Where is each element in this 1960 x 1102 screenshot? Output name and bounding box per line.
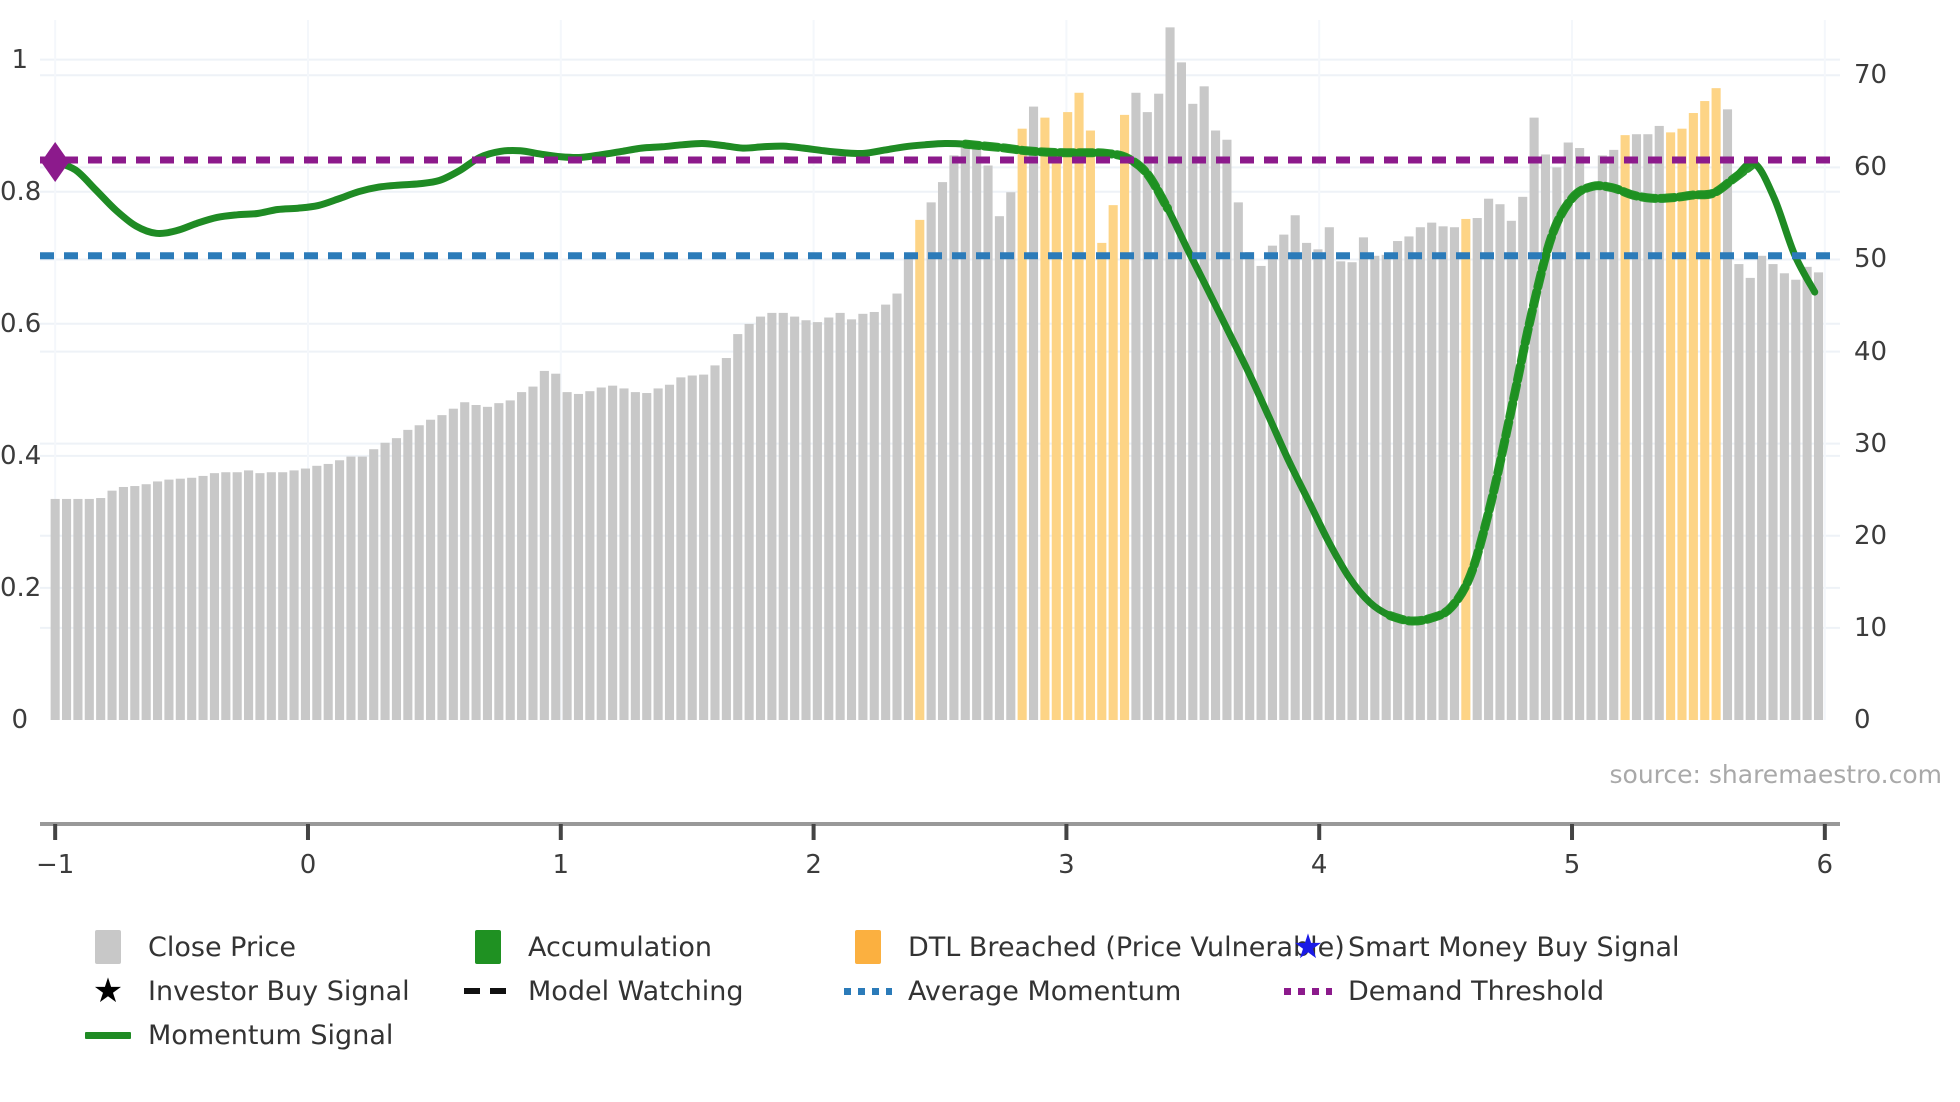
bar-close-price [221, 472, 230, 720]
legend-row: ★Investor Buy SignalModel WatchingAverag… [78, 969, 1928, 1013]
x-axis [0, 818, 1960, 878]
bar-close-price [1734, 264, 1743, 720]
bar-close-price [1598, 155, 1607, 720]
bar-close-price [335, 460, 344, 720]
legend-average-momentum[interactable]: Average Momentum [838, 969, 1181, 1013]
bar-close-price [881, 305, 890, 720]
bar-close-price [995, 216, 1004, 720]
bar-close-price [426, 420, 435, 720]
bar-close-price [164, 480, 173, 720]
bar-dtl-breached [1086, 131, 1095, 720]
bar-close-price [1530, 118, 1539, 720]
bar-close-price [642, 393, 651, 720]
bar-close-price [836, 313, 845, 720]
legend-label: Momentum Signal [138, 1020, 393, 1051]
y-axis-left-tick: 0.6 [0, 311, 28, 337]
bar-close-price [62, 499, 71, 720]
bar-close-price [1803, 267, 1812, 720]
bar-close-price [278, 472, 287, 720]
bar-close-price [870, 312, 879, 720]
bar-close-price [506, 400, 515, 720]
bar-dtl-breached [1689, 113, 1698, 720]
bar-close-price [858, 314, 867, 720]
bar-close-price [1166, 27, 1175, 720]
bar-close-price [437, 415, 446, 720]
bar-close-price [1757, 256, 1766, 720]
square-swatch-icon [475, 930, 501, 964]
bar-close-price [255, 473, 264, 720]
bar-close-price [358, 457, 367, 720]
dashed-line-swatch-icon [464, 988, 512, 994]
bar-close-price [324, 464, 333, 720]
bar-close-price [1222, 140, 1231, 720]
bar-close-price [517, 392, 526, 720]
bar-close-price [1518, 197, 1527, 720]
bar-close-price [563, 392, 572, 720]
bar-close-price [1723, 109, 1732, 720]
bar-close-price [631, 392, 640, 720]
y-axis-right-tick: 0 [1854, 707, 1871, 733]
bar-close-price [676, 377, 685, 720]
bar-close-price [892, 294, 901, 720]
bar-close-price [130, 486, 139, 720]
legend-label: Close Price [138, 932, 296, 963]
legend-accumulation[interactable]: Accumulation [458, 925, 712, 969]
bar-close-price [1791, 280, 1800, 720]
bar-close-price [472, 405, 481, 720]
bar-close-price [801, 320, 810, 720]
bar-dtl-breached [1109, 205, 1118, 720]
bar-close-price [619, 388, 628, 720]
bar-dtl-breached [1677, 129, 1686, 720]
legend-close-price[interactable]: Close Price [78, 925, 296, 969]
bar-close-price [267, 472, 276, 720]
bar-close-price [1632, 134, 1641, 720]
bar-close-price [1393, 241, 1402, 720]
bar-close-price [494, 403, 503, 720]
bar-close-price [961, 145, 970, 720]
bar-close-price [301, 469, 310, 720]
bar-close-price [73, 499, 82, 720]
dotted-line-swatch-icon [1284, 988, 1332, 995]
bar-close-price [665, 385, 674, 720]
bar-close-price [597, 388, 606, 721]
bar-close-price [233, 472, 242, 720]
bar-close-price [1746, 278, 1755, 720]
bar-dtl-breached [1712, 88, 1721, 720]
bar-close-price [1006, 192, 1015, 720]
y-axis-right-tick: 20 [1854, 523, 1887, 549]
bar-close-price [528, 387, 537, 720]
bar-close-price [1188, 104, 1197, 720]
bar-close-price [1348, 262, 1357, 720]
square-swatch-icon [95, 930, 121, 964]
legend-swatch [458, 988, 518, 994]
bar-dtl-breached [915, 220, 924, 720]
bar-close-price [813, 322, 822, 720]
legend-momentum-signal[interactable]: Momentum Signal [78, 1013, 393, 1057]
y-axis-left-tick: 0.8 [0, 179, 28, 205]
bar-close-price [654, 388, 663, 720]
legend-swatch: ★ [78, 974, 138, 1008]
legend-label: Average Momentum [898, 976, 1181, 1007]
bar-close-price [381, 443, 390, 720]
bar-close-price [1586, 184, 1595, 720]
legend-dtl-breached[interactable]: DTL Breached (Price Vulnerable) [838, 925, 1345, 969]
bar-close-price [1257, 266, 1266, 720]
bar-close-price [551, 374, 560, 720]
bar-close-price [1200, 86, 1209, 720]
bar-close-price [142, 484, 151, 720]
bar-close-price [290, 470, 299, 720]
bar-close-price [745, 324, 754, 720]
bar-close-price [449, 409, 458, 720]
bar-close-price [927, 202, 936, 720]
bar-close-price [1234, 202, 1243, 720]
bar-close-price [1507, 221, 1516, 720]
bar-close-price [904, 257, 913, 720]
legend-swatch [78, 930, 138, 964]
y-axis-left-tick: 1 [0, 47, 28, 73]
bar-close-price [585, 391, 594, 720]
legend-label: Smart Money Buy Signal [1338, 932, 1680, 963]
legend-label: Accumulation [518, 932, 712, 963]
bar-close-price [369, 449, 378, 720]
bar-close-price [1279, 235, 1288, 720]
bar-close-price [824, 318, 833, 721]
bar-close-price [574, 394, 583, 720]
chart-page: 00.20.40.60.81010203040506070−10123456 s… [0, 0, 1960, 1102]
legend-swatch [458, 930, 518, 964]
bar-dtl-breached [1461, 219, 1470, 720]
bar-close-price [1302, 243, 1311, 720]
bar-close-price [460, 402, 469, 720]
dotted-line-swatch-icon [844, 988, 892, 995]
bar-dtl-breached [1120, 115, 1129, 720]
bar-close-price [1143, 112, 1152, 720]
y-axis-right-tick: 60 [1854, 154, 1887, 180]
legend-swatch [78, 1032, 138, 1039]
bar-close-price [1484, 199, 1493, 720]
bar-close-price [790, 317, 799, 720]
demand-threshold-start-marker [41, 142, 69, 182]
star-swatch-icon: ★ [1293, 930, 1323, 964]
bar-close-price [540, 371, 549, 720]
legend-swatch [1278, 988, 1338, 995]
bar-close-price [1814, 272, 1823, 720]
legend-demand-threshold[interactable]: Demand Threshold [1278, 969, 1604, 1013]
bar-dtl-breached [1097, 243, 1106, 720]
bar-close-price [1655, 126, 1664, 720]
bar-close-price [1552, 167, 1561, 720]
y-axis-right-tick: 30 [1854, 431, 1887, 457]
legend-model-watching[interactable]: Model Watching [458, 969, 743, 1013]
bar-close-price [96, 498, 105, 720]
bar-close-price [1359, 237, 1368, 720]
bar-close-price [1029, 107, 1038, 720]
legend-label: Demand Threshold [1338, 976, 1604, 1007]
bar-close-price [1439, 226, 1448, 720]
y-axis-left-tick: 0.2 [0, 575, 28, 601]
bar-close-price [199, 476, 208, 720]
bar-dtl-breached [1040, 118, 1049, 720]
bar-dtl-breached [1018, 129, 1027, 720]
plot-area [40, 20, 1840, 720]
bar-close-price [312, 466, 321, 720]
bar-close-price [1473, 218, 1482, 720]
bar-close-price [1325, 227, 1334, 720]
bar-close-price [1768, 264, 1777, 720]
star-swatch-icon: ★ [93, 974, 123, 1008]
y-axis-right-tick: 10 [1854, 615, 1887, 641]
bar-close-price [983, 166, 992, 720]
y-axis-right-tick: 40 [1854, 339, 1887, 365]
y-axis-left-tick: 0 [0, 707, 28, 733]
bar-close-price [1643, 134, 1652, 720]
bar-close-price [176, 479, 185, 720]
bar-close-price [710, 365, 719, 720]
bar-close-price [1450, 227, 1459, 720]
bar-close-price [779, 313, 788, 720]
bar-close-price [1245, 252, 1254, 720]
bar-dtl-breached [1074, 93, 1083, 720]
bar-close-price [1609, 150, 1618, 720]
legend-investor-buy[interactable]: ★Investor Buy Signal [78, 969, 410, 1013]
bar-close-price [767, 313, 776, 720]
bar-close-price [403, 430, 412, 720]
bar-dtl-breached [1063, 112, 1072, 720]
bar-dtl-breached [1621, 135, 1630, 720]
bar-close-price [51, 499, 60, 720]
bar-close-price [699, 375, 708, 720]
line-swatch-icon [85, 1032, 131, 1039]
bar-close-price [1268, 246, 1277, 720]
legend-row: Close PriceAccumulationDTL Breached (Pri… [78, 925, 1928, 969]
bar-close-price [847, 319, 856, 720]
bar-close-price [733, 334, 742, 720]
bar-close-price [244, 470, 253, 720]
y-axis-left-tick: 0.4 [0, 443, 28, 469]
bar-close-price [1131, 93, 1140, 720]
square-swatch-icon [855, 930, 881, 964]
bar-close-price [1404, 236, 1413, 720]
bar-close-price [1564, 143, 1573, 721]
bar-close-price [346, 457, 355, 720]
bar-close-price [1370, 256, 1379, 720]
bar-close-price [187, 478, 196, 720]
chart-legend: Close PriceAccumulationDTL Breached (Pri… [78, 925, 1928, 1057]
bar-close-price [972, 146, 981, 720]
bar-dtl-breached [1666, 132, 1675, 720]
legend-label: Model Watching [518, 976, 743, 1007]
legend-swatch [838, 930, 898, 964]
legend-swatch: ★ [1278, 930, 1338, 964]
bar-close-price [1211, 131, 1220, 720]
close-price-bars [51, 27, 1823, 720]
bar-close-price [1427, 223, 1436, 720]
bar-close-price [1575, 148, 1584, 720]
bar-close-price [153, 481, 162, 720]
bar-close-price [1313, 249, 1322, 720]
bar-close-price [85, 499, 94, 720]
source-note: source: sharemaestro.com [1610, 760, 1943, 789]
bar-close-price [756, 317, 765, 720]
bar-close-price [483, 407, 492, 720]
chart-svg [40, 20, 1840, 720]
bar-close-price [1416, 227, 1425, 720]
bar-close-price [949, 155, 958, 720]
bar-close-price [210, 473, 219, 720]
y-axis-right-tick: 70 [1854, 62, 1887, 88]
legend-label: Investor Buy Signal [138, 976, 410, 1007]
bar-close-price [108, 491, 117, 720]
legend-row: Momentum Signal [78, 1013, 1928, 1057]
bar-close-price [722, 358, 731, 720]
bar-close-price [415, 425, 424, 720]
legend-smart-money[interactable]: ★Smart Money Buy Signal [1278, 925, 1680, 969]
bar-close-price [119, 487, 128, 720]
bar-close-price [688, 376, 697, 720]
bar-close-price [608, 386, 617, 720]
bar-dtl-breached [1052, 155, 1061, 720]
legend-swatch [838, 988, 898, 995]
bar-close-price [392, 438, 401, 720]
y-axis-right-tick: 50 [1854, 246, 1887, 272]
bar-close-price [1336, 261, 1345, 720]
bar-close-price [1382, 255, 1391, 720]
bar-close-price [938, 182, 947, 720]
bar-close-price [1780, 273, 1789, 720]
